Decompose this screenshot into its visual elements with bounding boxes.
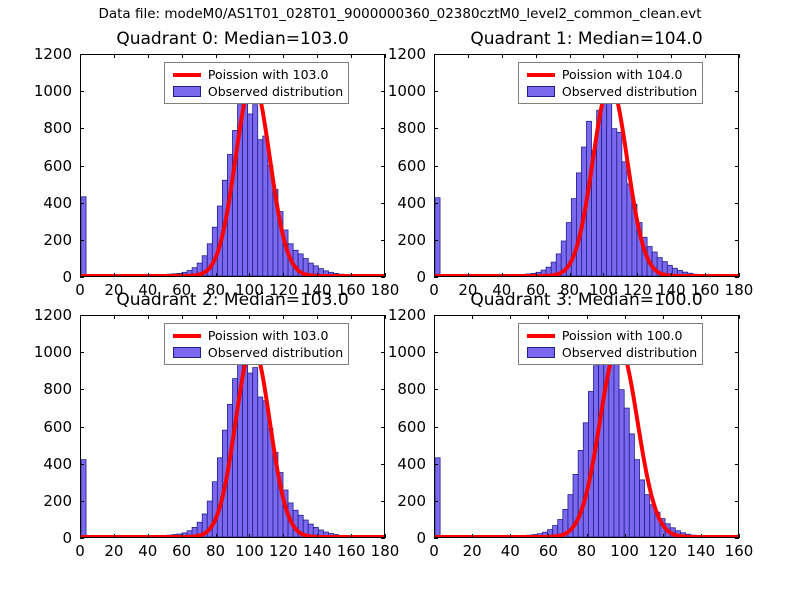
y-tick-label: 400 bbox=[43, 194, 72, 212]
legend-label: Poission with 100.0 bbox=[562, 328, 683, 343]
y-tick-label: 200 bbox=[397, 231, 426, 249]
x-tick-top bbox=[283, 54, 284, 58]
y-tick bbox=[80, 464, 84, 465]
y-tick bbox=[80, 54, 84, 55]
x-tick-top bbox=[148, 315, 149, 319]
y-tick-label: 0 bbox=[62, 529, 72, 547]
y-tick-right bbox=[735, 54, 739, 55]
y-tick-right bbox=[381, 166, 385, 167]
x-tick-top bbox=[216, 315, 217, 319]
x-tick-top bbox=[216, 54, 217, 58]
y-tick bbox=[80, 128, 84, 129]
x-tick-top bbox=[625, 315, 626, 319]
y-tick-label: 800 bbox=[43, 119, 72, 137]
x-tick-top bbox=[536, 54, 537, 58]
x-tick bbox=[385, 534, 386, 538]
y-tick-label: 1200 bbox=[34, 306, 72, 324]
x-tick-label: 20 bbox=[104, 542, 123, 560]
x-tick-top bbox=[317, 315, 318, 319]
x-tick-top bbox=[739, 315, 740, 319]
y-tick-right bbox=[735, 91, 739, 92]
y-tick-right bbox=[381, 427, 385, 428]
x-tick-top bbox=[385, 54, 386, 58]
x-tick-label: 80 bbox=[206, 542, 225, 560]
x-tick bbox=[510, 534, 511, 538]
x-tick bbox=[249, 534, 250, 538]
bar-swatch-icon bbox=[527, 347, 555, 358]
y-tick-label: 1200 bbox=[388, 45, 426, 63]
x-tick bbox=[536, 273, 537, 277]
figure-canvas: Data file: modeM0/AS1T01_028T01_90000003… bbox=[0, 0, 800, 600]
legend-label: Observed distribution bbox=[562, 84, 697, 99]
y-tick-label: 600 bbox=[43, 157, 72, 175]
x-tick-label: 100 bbox=[610, 542, 639, 560]
y-tick-right bbox=[381, 315, 385, 316]
y-tick-label: 200 bbox=[397, 492, 426, 510]
y-tick-label: 1000 bbox=[388, 82, 426, 100]
y-tick-label: 600 bbox=[397, 418, 426, 436]
x-tick-top bbox=[548, 315, 549, 319]
x-tick bbox=[182, 534, 183, 538]
x-tick-label: 20 bbox=[463, 542, 482, 560]
subplot-title: Quadrant 1: Median=104.0 bbox=[434, 29, 739, 49]
y-tick-right bbox=[381, 389, 385, 390]
line-swatch-icon bbox=[173, 334, 201, 338]
x-tick-label: 160 bbox=[337, 542, 366, 560]
x-tick bbox=[148, 273, 149, 277]
line-swatch-icon bbox=[173, 73, 201, 77]
y-tick-label: 0 bbox=[416, 268, 426, 286]
bar-swatch-icon bbox=[173, 86, 201, 97]
y-tick-right bbox=[381, 464, 385, 465]
x-tick bbox=[114, 273, 115, 277]
x-tick-top bbox=[317, 54, 318, 58]
x-tick-top bbox=[739, 54, 740, 58]
subplot-quadrant-3: Quadrant 3: Median=100.00204060801001201… bbox=[434, 315, 739, 538]
y-tick bbox=[434, 464, 438, 465]
x-tick-top bbox=[351, 54, 352, 58]
x-tick-top bbox=[472, 315, 473, 319]
y-tick-right bbox=[735, 389, 739, 390]
y-tick bbox=[434, 352, 438, 353]
y-tick-right bbox=[381, 277, 385, 278]
x-tick-top bbox=[510, 315, 511, 319]
x-tick-label: 180 bbox=[371, 542, 400, 560]
x-tick-label: 40 bbox=[501, 542, 520, 560]
y-tick bbox=[80, 389, 84, 390]
x-tick-label: 120 bbox=[648, 542, 677, 560]
x-tick bbox=[114, 534, 115, 538]
x-tick-top bbox=[182, 54, 183, 58]
x-tick-top bbox=[114, 315, 115, 319]
x-tick-top bbox=[249, 315, 250, 319]
y-tick bbox=[434, 538, 438, 539]
y-tick-label: 400 bbox=[397, 455, 426, 473]
y-tick bbox=[80, 240, 84, 241]
x-tick-top bbox=[637, 54, 638, 58]
legend-label: Poission with 103.0 bbox=[208, 328, 329, 343]
y-tick-label: 200 bbox=[43, 231, 72, 249]
y-tick bbox=[80, 352, 84, 353]
legend-label: Observed distribution bbox=[562, 345, 697, 360]
x-tick bbox=[283, 534, 284, 538]
y-tick-right bbox=[735, 464, 739, 465]
x-tick bbox=[148, 534, 149, 538]
legend: Poission with 103.0Observed distribution bbox=[164, 62, 349, 104]
y-tick bbox=[80, 203, 84, 204]
x-tick bbox=[216, 273, 217, 277]
x-tick bbox=[249, 273, 250, 277]
x-tick-label: 80 bbox=[577, 542, 596, 560]
y-tick-label: 1000 bbox=[34, 82, 72, 100]
y-tick-label: 600 bbox=[397, 157, 426, 175]
subplot-quadrant-2: Quadrant 2: Median=103.00204060801001201… bbox=[80, 315, 385, 538]
y-tick-right bbox=[381, 538, 385, 539]
line-swatch-icon bbox=[527, 334, 555, 338]
y-tick-right bbox=[735, 538, 739, 539]
y-tick bbox=[434, 315, 438, 316]
x-tick-top bbox=[468, 54, 469, 58]
y-tick bbox=[80, 538, 84, 539]
x-tick bbox=[385, 273, 386, 277]
x-tick bbox=[570, 273, 571, 277]
legend-entry-poisson: Poission with 103.0 bbox=[169, 327, 343, 344]
y-tick-right bbox=[735, 501, 739, 502]
x-tick-top bbox=[502, 54, 503, 58]
y-tick-label: 0 bbox=[416, 529, 426, 547]
x-tick-label: 60 bbox=[172, 542, 191, 560]
x-tick-top bbox=[114, 54, 115, 58]
x-tick bbox=[472, 534, 473, 538]
x-tick bbox=[216, 534, 217, 538]
x-tick bbox=[705, 273, 706, 277]
bar-swatch-icon bbox=[173, 347, 201, 358]
legend: Poission with 100.0Observed distribution bbox=[518, 323, 703, 365]
x-tick-top bbox=[570, 54, 571, 58]
x-tick-top bbox=[701, 315, 702, 319]
x-tick-top bbox=[705, 54, 706, 58]
legend-label: Poission with 104.0 bbox=[562, 67, 683, 82]
x-tick-label: 160 bbox=[725, 542, 754, 560]
legend-label: Observed distribution bbox=[208, 345, 343, 360]
x-tick-top bbox=[603, 54, 604, 58]
y-tick bbox=[434, 91, 438, 92]
x-tick bbox=[587, 534, 588, 538]
y-tick bbox=[434, 389, 438, 390]
y-tick bbox=[80, 277, 84, 278]
x-tick bbox=[739, 273, 740, 277]
y-tick bbox=[434, 54, 438, 55]
x-tick-top bbox=[351, 315, 352, 319]
y-tick-right bbox=[381, 203, 385, 204]
legend-entry-observed: Observed distribution bbox=[523, 344, 697, 361]
y-tick-label: 0 bbox=[62, 268, 72, 286]
x-tick bbox=[317, 534, 318, 538]
subplot-title: Quadrant 2: Median=103.0 bbox=[80, 290, 385, 310]
x-tick-label: 140 bbox=[303, 542, 332, 560]
legend-label: Poission with 103.0 bbox=[208, 67, 329, 82]
y-tick bbox=[434, 203, 438, 204]
y-tick-label: 1000 bbox=[388, 343, 426, 361]
x-tick bbox=[637, 273, 638, 277]
x-tick bbox=[317, 273, 318, 277]
y-tick bbox=[434, 240, 438, 241]
legend-entry-poisson: Poission with 104.0 bbox=[523, 66, 697, 83]
legend-entry-observed: Observed distribution bbox=[169, 344, 343, 361]
y-tick-right bbox=[381, 54, 385, 55]
line-swatch-icon bbox=[527, 73, 555, 77]
legend: Poission with 104.0Observed distribution bbox=[518, 62, 703, 104]
legend-entry-observed: Observed distribution bbox=[523, 83, 697, 100]
x-tick-top bbox=[663, 315, 664, 319]
x-tick-label: 140 bbox=[687, 542, 716, 560]
legend-label: Observed distribution bbox=[208, 84, 343, 99]
x-tick bbox=[283, 273, 284, 277]
y-tick bbox=[80, 166, 84, 167]
x-tick bbox=[739, 534, 740, 538]
x-tick bbox=[502, 273, 503, 277]
bar-swatch-icon bbox=[527, 86, 555, 97]
y-tick bbox=[434, 501, 438, 502]
x-tick bbox=[663, 534, 664, 538]
y-tick-label: 1000 bbox=[34, 343, 72, 361]
y-tick-label: 800 bbox=[397, 380, 426, 398]
y-tick-label: 200 bbox=[43, 492, 72, 510]
x-tick-top bbox=[587, 315, 588, 319]
y-tick-right bbox=[735, 427, 739, 428]
x-tick-top bbox=[283, 315, 284, 319]
y-tick bbox=[434, 128, 438, 129]
subplot-quadrant-0: Quadrant 0: Median=103.00204060801001201… bbox=[80, 54, 385, 277]
x-tick bbox=[671, 273, 672, 277]
y-tick-right bbox=[381, 240, 385, 241]
y-tick-right bbox=[381, 501, 385, 502]
x-tick bbox=[625, 534, 626, 538]
y-tick-label: 400 bbox=[43, 455, 72, 473]
x-tick-label: 0 bbox=[429, 542, 439, 560]
y-tick-right bbox=[735, 128, 739, 129]
y-tick-label: 1200 bbox=[388, 306, 426, 324]
x-tick-label: 40 bbox=[138, 542, 157, 560]
x-tick-top bbox=[249, 54, 250, 58]
legend-entry-observed: Observed distribution bbox=[169, 83, 343, 100]
x-tick-label: 60 bbox=[539, 542, 558, 560]
y-tick bbox=[80, 91, 84, 92]
y-tick-right bbox=[381, 128, 385, 129]
y-tick-right bbox=[735, 277, 739, 278]
x-tick-label: 0 bbox=[75, 542, 85, 560]
x-tick-top bbox=[671, 54, 672, 58]
subplot-quadrant-1: Quadrant 1: Median=104.00204060801001201… bbox=[434, 54, 739, 277]
y-tick-label: 600 bbox=[43, 418, 72, 436]
x-tick bbox=[351, 273, 352, 277]
x-tick-top bbox=[182, 315, 183, 319]
y-tick-label: 1200 bbox=[34, 45, 72, 63]
x-tick bbox=[603, 273, 604, 277]
x-tick bbox=[182, 273, 183, 277]
x-tick bbox=[468, 273, 469, 277]
figure-title: Data file: modeM0/AS1T01_028T01_90000003… bbox=[0, 6, 800, 22]
y-tick-right bbox=[381, 352, 385, 353]
x-tick-label: 100 bbox=[235, 542, 264, 560]
x-tick bbox=[548, 534, 549, 538]
legend: Poission with 103.0Observed distribution bbox=[164, 323, 349, 365]
subplot-title: Quadrant 3: Median=100.0 bbox=[434, 290, 739, 310]
y-tick-right bbox=[735, 166, 739, 167]
y-tick-right bbox=[735, 203, 739, 204]
y-tick-label: 800 bbox=[397, 119, 426, 137]
x-tick bbox=[351, 534, 352, 538]
y-tick bbox=[80, 315, 84, 316]
y-tick bbox=[434, 427, 438, 428]
y-tick bbox=[80, 427, 84, 428]
y-tick-right bbox=[735, 315, 739, 316]
subplot-title: Quadrant 0: Median=103.0 bbox=[80, 29, 385, 49]
y-tick-right bbox=[735, 240, 739, 241]
y-tick-label: 400 bbox=[397, 194, 426, 212]
legend-entry-poisson: Poission with 100.0 bbox=[523, 327, 697, 344]
y-tick bbox=[434, 277, 438, 278]
y-tick-right bbox=[735, 352, 739, 353]
x-tick-top bbox=[385, 315, 386, 319]
x-tick bbox=[701, 534, 702, 538]
y-tick bbox=[80, 501, 84, 502]
legend-entry-poisson: Poission with 103.0 bbox=[169, 66, 343, 83]
y-tick-label: 800 bbox=[43, 380, 72, 398]
x-tick-label: 120 bbox=[269, 542, 298, 560]
y-tick-right bbox=[381, 91, 385, 92]
x-tick-top bbox=[148, 54, 149, 58]
y-tick bbox=[434, 166, 438, 167]
